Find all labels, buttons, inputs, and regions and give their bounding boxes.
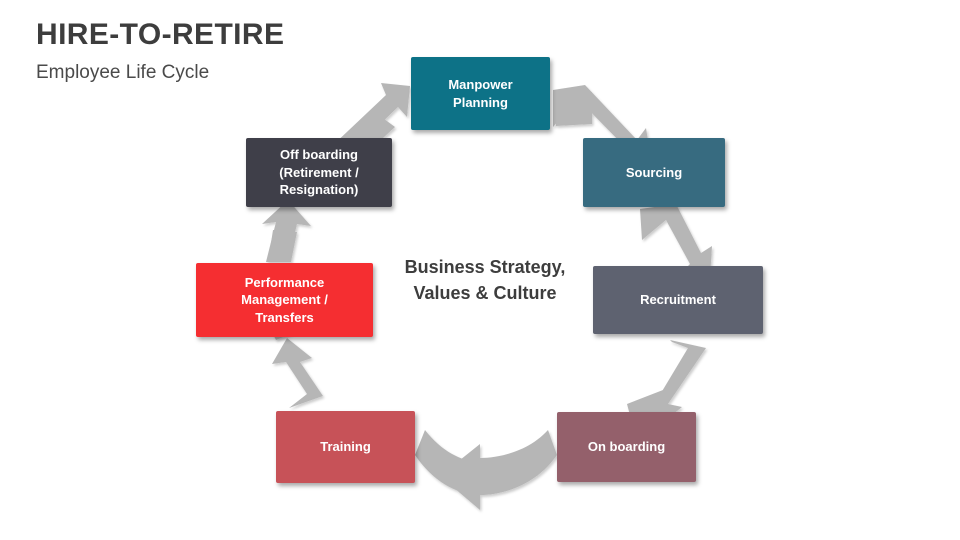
arrow-onboarding-to-training: [440, 430, 557, 510]
hire-to-retire-cycle-diagram: Manpower Planning Sourcing Recruitment O…: [0, 0, 960, 540]
cycle-node-recruitment-label: Recruitment: [640, 291, 716, 308]
arrow-performance-to-offboarding: [262, 200, 311, 262]
cycle-node-performance-management[interactable]: Performance Management / Transfers: [196, 263, 373, 337]
center-caption: Business Strategy, Values & Culture: [378, 255, 592, 306]
center-caption-line-2: Values & Culture: [378, 281, 592, 307]
cycle-node-performance-management-label: Performance Management / Transfers: [241, 274, 328, 326]
center-caption-line-1: Business Strategy,: [378, 255, 592, 281]
arrow-onboarding-to-training-tail: [415, 430, 478, 495]
cycle-node-off-boarding-label: Off boarding (Retirement / Resignation): [279, 146, 358, 198]
cycle-node-on-boarding-label: On boarding: [588, 438, 665, 455]
cycle-node-manpower-planning[interactable]: Manpower Planning: [411, 57, 550, 130]
arrow-performance-to-offboarding-tail: [268, 230, 297, 262]
cycle-node-off-boarding[interactable]: Off boarding (Retirement / Resignation): [246, 138, 392, 207]
cycle-node-on-boarding[interactable]: On boarding: [557, 412, 696, 482]
cycle-node-recruitment[interactable]: Recruitment: [593, 266, 763, 334]
arrow-manpower-to-sourcing-head: [556, 92, 592, 126]
cycle-node-sourcing-label: Sourcing: [626, 164, 682, 181]
cycle-node-training[interactable]: Training: [276, 411, 415, 483]
slide-canvas: HIRE-TO-RETIRE Employee Life Cycle: [0, 0, 960, 540]
cycle-node-training-label: Training: [320, 438, 371, 455]
cycle-node-manpower-planning-label: Manpower Planning: [448, 76, 512, 111]
arrow-training-to-performance: [272, 338, 323, 408]
cycle-node-sourcing[interactable]: Sourcing: [583, 138, 725, 207]
